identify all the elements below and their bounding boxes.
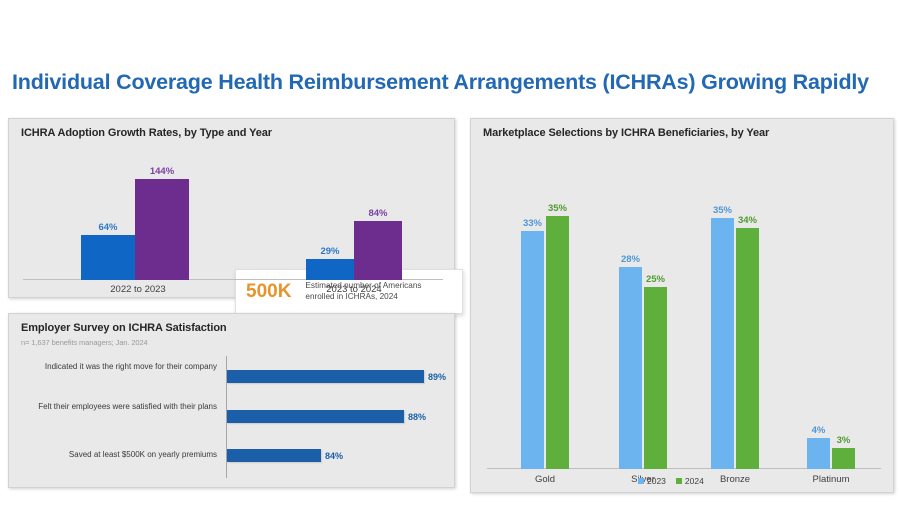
growth-bar-label-2023-2024-all-ichras: 29%	[320, 246, 339, 257]
survey-bar-value-2: 88%	[408, 412, 426, 422]
survey-row-2: Felt their employees were satisfied with…	[19, 402, 447, 436]
marketplace-bar-label-silver-2023: 28%	[621, 254, 640, 265]
legend-swatch-icon-2023	[638, 478, 644, 484]
marketplace-category-label-platinum: Platinum	[791, 474, 871, 485]
survey-bar-value-1: 89%	[428, 372, 446, 382]
growth-bar-2023-2024-ales[interactable]: 84%	[354, 221, 402, 280]
marketplace-bar-label-platinum-2024: 3%	[837, 435, 851, 446]
panel-title-survey: Employer Survey on ICHRA Satisfaction	[21, 322, 227, 334]
survey-bar-2[interactable]	[227, 410, 404, 423]
survey-row-label-3: Saved at least $500K on yearly premiums	[19, 450, 217, 461]
panel-title-marketplace: Marketplace Selections by ICHRA Benefici…	[483, 127, 769, 139]
marketplace-category-label-bronze: Bronze	[695, 474, 775, 485]
marketplace-bar-label-bronze-2023: 35%	[713, 205, 732, 216]
marketplace-bar-platinum-2024[interactable]: 3%	[832, 448, 855, 469]
marketplace-bar-silver-2023[interactable]: 28%	[619, 267, 642, 469]
page-title: Individual Coverage Health Reimbursement…	[12, 70, 869, 95]
growth-bar-2022-2023-ales[interactable]: 144%	[135, 179, 189, 280]
marketplace-bar-platinum-2023[interactable]: 4%	[807, 438, 830, 469]
panel-marketplace-selections: Marketplace Selections by ICHRA Benefici…	[470, 118, 894, 493]
legend-label-2023: 2023	[647, 476, 666, 486]
growth-bar-label-2022-2023-all-ichras: 64%	[98, 222, 117, 233]
marketplace-chart: 33% 35% 28% 25% 35% 34% 4% 3% Gold Silve…	[487, 181, 881, 469]
legend-label-2024: 2024	[685, 476, 704, 486]
survey-row-3: Saved at least $500K on yearly premiums …	[19, 448, 447, 474]
survey-bar-3[interactable]	[227, 449, 321, 462]
growth-bar-2023-2024-all-ichras[interactable]: 29%	[306, 259, 354, 280]
legend-entry-2024[interactable]: 2024	[676, 476, 704, 486]
callout-500k-value: 500K	[246, 281, 291, 303]
survey-row-1: Indicated it was the right move for thei…	[19, 362, 447, 396]
marketplace-bar-gold-2024[interactable]: 35%	[546, 216, 569, 469]
marketplace-bar-silver-2024[interactable]: 25%	[644, 287, 667, 469]
marketplace-bar-label-gold-2024: 35%	[548, 203, 567, 214]
legend-entry-2023[interactable]: 2023	[638, 476, 666, 486]
panel-title-growth: ICHRA Adoption Growth Rates, by Type and…	[21, 127, 272, 139]
survey-bar-value-3: 84%	[325, 451, 343, 461]
panel-employer-survey: Employer Survey on ICHRA Satisfaction n=…	[8, 313, 455, 488]
growth-bar-2022-2023-all-ichras[interactable]: 64%	[81, 235, 135, 280]
survey-row-label-1: Indicated it was the right move for thei…	[19, 362, 217, 373]
survey-row-label-2: Felt their employees were satisfied with…	[19, 402, 217, 413]
marketplace-bar-label-platinum-2023: 4%	[812, 425, 826, 436]
marketplace-bar-label-gold-2023: 33%	[523, 218, 542, 229]
survey-bar-1[interactable]	[227, 370, 424, 383]
panel-ichra-adoption-growth: ICHRA Adoption Growth Rates, by Type and…	[8, 118, 455, 298]
growth-chart: 64% 144% 29% 84% 2022 to 2023 2023 to 20…	[23, 155, 443, 280]
marketplace-category-label-gold: Gold	[505, 474, 585, 485]
marketplace-bar-bronze-2023[interactable]: 35%	[711, 218, 734, 469]
marketplace-bar-label-bronze-2024: 34%	[738, 215, 757, 226]
legend-swatch-icon-2024	[676, 478, 682, 484]
marketplace-bar-gold-2023[interactable]: 33%	[521, 231, 544, 469]
growth-category-label-2022-2023: 2022 to 2023	[73, 284, 203, 295]
growth-bar-label-2023-2024-ales: 84%	[368, 208, 387, 219]
marketplace-chart-legend: 2023 2024	[638, 476, 704, 486]
survey-chart: Indicated it was the right move for thei…	[19, 356, 447, 478]
marketplace-bar-label-silver-2024: 25%	[646, 274, 665, 285]
growth-category-label-2023-2024: 2023 to 2024	[289, 284, 419, 295]
growth-bar-label-2022-2023-ales: 144%	[150, 166, 174, 177]
panel-subtitle-survey: n= 1,637 benefits managers; Jan. 2024	[21, 338, 148, 347]
marketplace-bar-bronze-2024[interactable]: 34%	[736, 228, 759, 469]
